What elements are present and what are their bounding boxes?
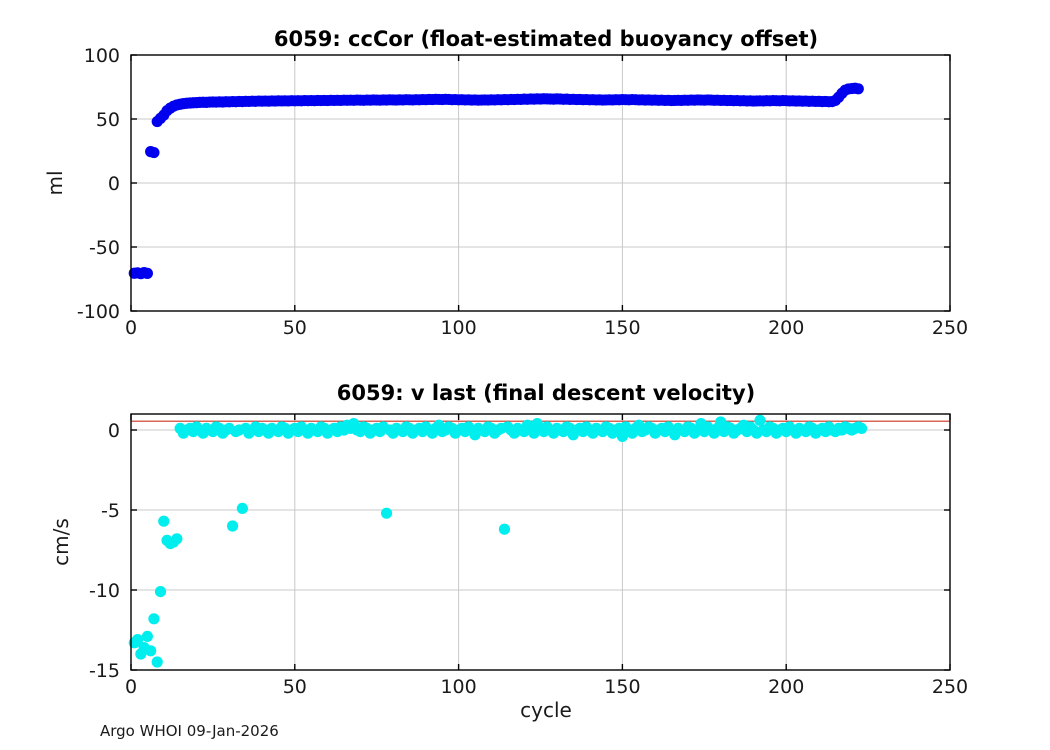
figure-background bbox=[0, 0, 1050, 750]
svg-text:-15: -15 bbox=[89, 660, 120, 682]
svg-text:-100: -100 bbox=[77, 301, 120, 323]
svg-text:250: 250 bbox=[932, 676, 968, 698]
svg-text:0: 0 bbox=[108, 173, 120, 195]
svg-text:100: 100 bbox=[440, 676, 476, 698]
svg-text:200: 200 bbox=[768, 317, 804, 339]
v-last-y-axis-title: cm/s bbox=[49, 518, 73, 566]
svg-text:-10: -10 bbox=[89, 580, 120, 602]
v-last-x-axis-title: cycle bbox=[520, 698, 572, 722]
svg-text:150: 150 bbox=[604, 317, 640, 339]
svg-text:50: 50 bbox=[283, 676, 307, 698]
argo-float-diagnostic-figure: 6059: ccCor (float-estimated buoyancy of… bbox=[0, 0, 1050, 750]
svg-text:150: 150 bbox=[604, 676, 640, 698]
svg-text:0: 0 bbox=[125, 317, 137, 339]
svg-text:0: 0 bbox=[125, 676, 137, 698]
svg-text:250: 250 bbox=[932, 317, 968, 339]
v-last-plot-title: 6059: v last (final descent velocity) bbox=[337, 381, 755, 405]
svg-text:50: 50 bbox=[96, 109, 120, 131]
svg-text:-5: -5 bbox=[101, 500, 120, 522]
svg-text:-50: -50 bbox=[89, 237, 120, 259]
svg-text:100: 100 bbox=[84, 45, 120, 67]
footer-credit: Argo WHOI 09-Jan-2026 bbox=[100, 722, 279, 740]
svg-text:50: 50 bbox=[283, 317, 307, 339]
ccCor-plot-title: 6059: ccCor (float-estimated buoyancy of… bbox=[274, 27, 818, 51]
svg-text:200: 200 bbox=[768, 676, 804, 698]
ccCor-y-axis-title: ml bbox=[43, 170, 67, 195]
svg-text:100: 100 bbox=[440, 317, 476, 339]
svg-text:0: 0 bbox=[108, 420, 120, 442]
